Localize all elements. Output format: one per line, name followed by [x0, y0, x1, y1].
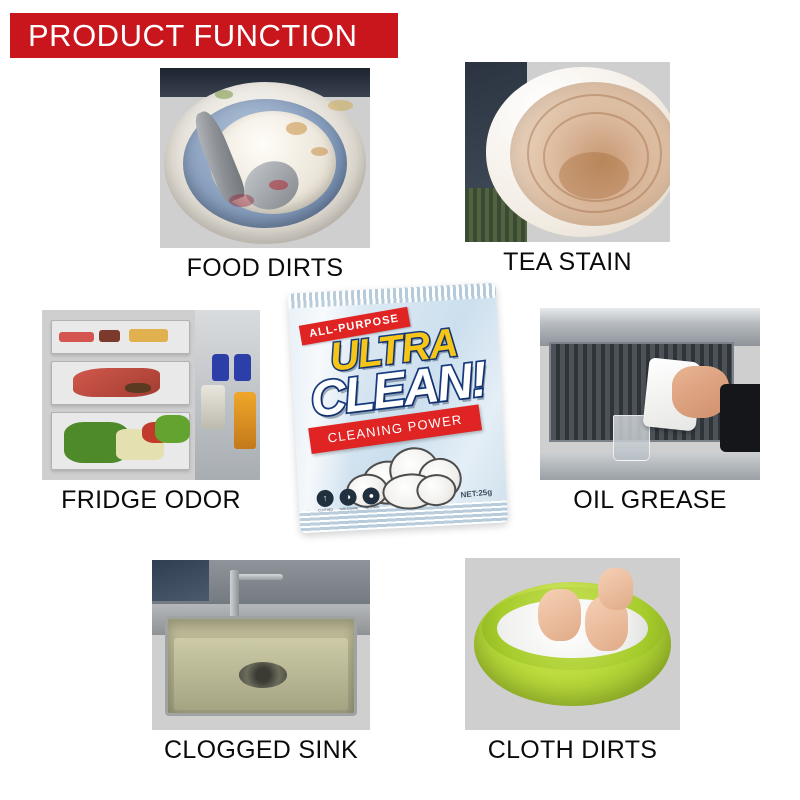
feature-label-food-dirts: FOOD DIRTS: [160, 254, 370, 283]
feature-cell-clogged-sink: CLOGGED SINK: [152, 560, 370, 765]
tshirt-glyph: ↑: [323, 494, 328, 503]
droplet-glyph: ●: [368, 491, 374, 500]
net-weight-label: NET:25g: [461, 487, 493, 499]
badge-caption-no-stain: NO STAIN: [364, 505, 379, 510]
badge-tableware: ◑ TABLEWARE: [338, 488, 358, 511]
cloth-dirts-photo: [465, 558, 680, 730]
package-artwork: ALL-PURPOSE ULTRA CLEAN! CLEANING POWER …: [288, 283, 508, 534]
tea-stain-photo: [465, 62, 670, 242]
clogged-sink-photo: [152, 560, 370, 730]
feature-label-oil-grease: OIL GREASE: [540, 486, 760, 515]
feature-cell-food-dirts: FOOD DIRTS: [160, 68, 370, 283]
feature-label-clogged-sink: CLOGGED SINK: [152, 736, 370, 765]
feature-cell-fridge-odor: FRIDGE ODOR: [42, 310, 260, 515]
oil-grease-photo: [540, 308, 760, 480]
badge-no-stain: ● NO STAIN: [362, 487, 380, 510]
feature-cell-tea-stain: TEA STAIN: [465, 62, 670, 277]
feature-cell-cloth-dirts: CLOTH DIRTS: [465, 558, 680, 765]
product-package: ALL-PURPOSE ULTRA CLEAN! CLEANING POWER …: [294, 288, 502, 528]
dishes-glyph: ◑: [345, 493, 351, 502]
feature-cell-oil-grease: OIL GREASE: [540, 308, 760, 515]
feature-label-fridge-odor: FRIDGE ODOR: [42, 486, 260, 515]
tshirt-icon: ↑: [316, 490, 334, 508]
food-dirts-photo: [160, 68, 370, 248]
package-badges: ↑ CLOTHES ◑ TABLEWARE ● NO STAIN: [316, 487, 380, 512]
header-banner: PRODUCT FUNCTION: [10, 13, 398, 58]
badge-caption-clothes: CLOTHES: [318, 508, 333, 513]
feature-label-cloth-dirts: CLOTH DIRTS: [465, 736, 680, 765]
feature-label-tea-stain: TEA STAIN: [465, 248, 670, 277]
product-function-infographic: PRODUCT FUNCTION FOOD DIRTS: [0, 0, 800, 800]
dishes-icon: ◑: [339, 488, 357, 506]
fridge-odor-photo: [42, 310, 260, 480]
page-title: PRODUCT FUNCTION: [10, 18, 357, 54]
badge-clothes: ↑ CLOTHES: [316, 490, 334, 513]
droplet-icon: ●: [362, 487, 380, 505]
